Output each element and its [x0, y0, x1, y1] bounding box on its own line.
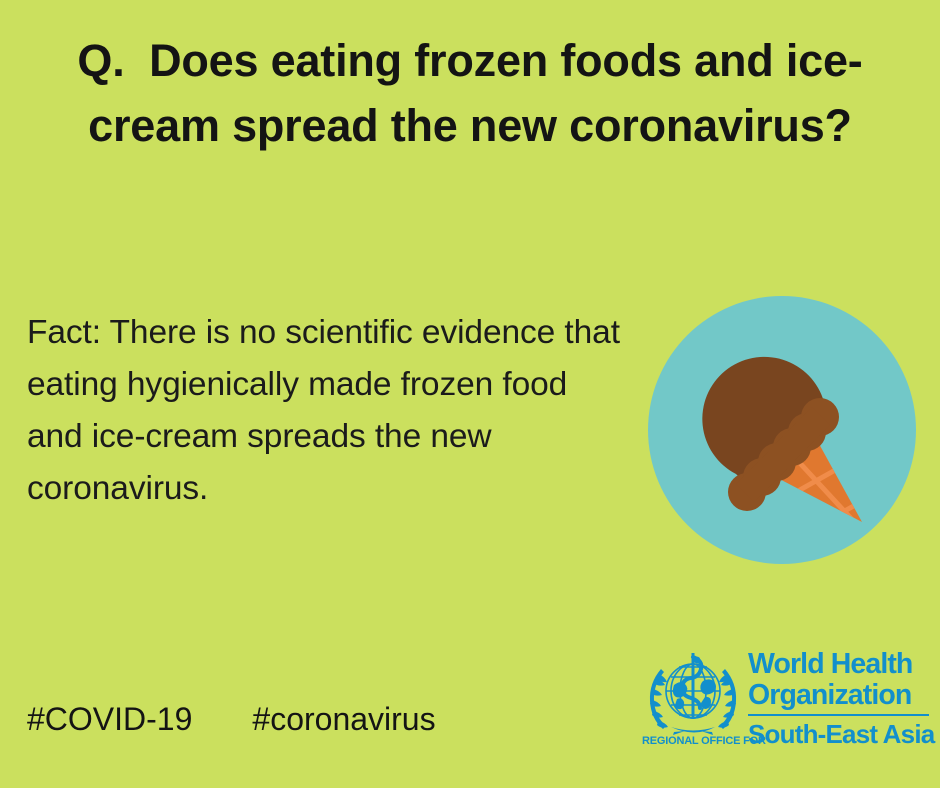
hashtag-coronavirus: #coronavirus — [252, 701, 435, 737]
fact-paragraph: Fact: There is no scientific evidence th… — [27, 307, 627, 515]
who-name-line1: World Health — [748, 649, 929, 680]
ice-cream-cone-icon — [648, 296, 916, 564]
who-logo: REGIONAL OFFICE FOR World Health Organiz… — [641, 647, 929, 757]
hashtag-covid19: #COVID-19 — [27, 701, 192, 737]
who-divider-rule — [748, 714, 929, 716]
who-name-line2: Organization — [748, 680, 929, 711]
hashtag-row: #COVID-19#coronavirus — [27, 699, 436, 739]
who-emblem-icon — [641, 647, 745, 735]
poster-canvas: Q. Does eating frozen foods and ice-crea… — [0, 0, 940, 788]
who-region-label: South-East Asia — [748, 720, 929, 749]
question-heading: Q. Does eating frozen foods and ice-crea… — [0, 28, 940, 158]
who-wordmark: World Health Organization South-East Asi… — [748, 649, 929, 749]
who-regional-office-label: REGIONAL OFFICE FOR — [642, 735, 746, 747]
